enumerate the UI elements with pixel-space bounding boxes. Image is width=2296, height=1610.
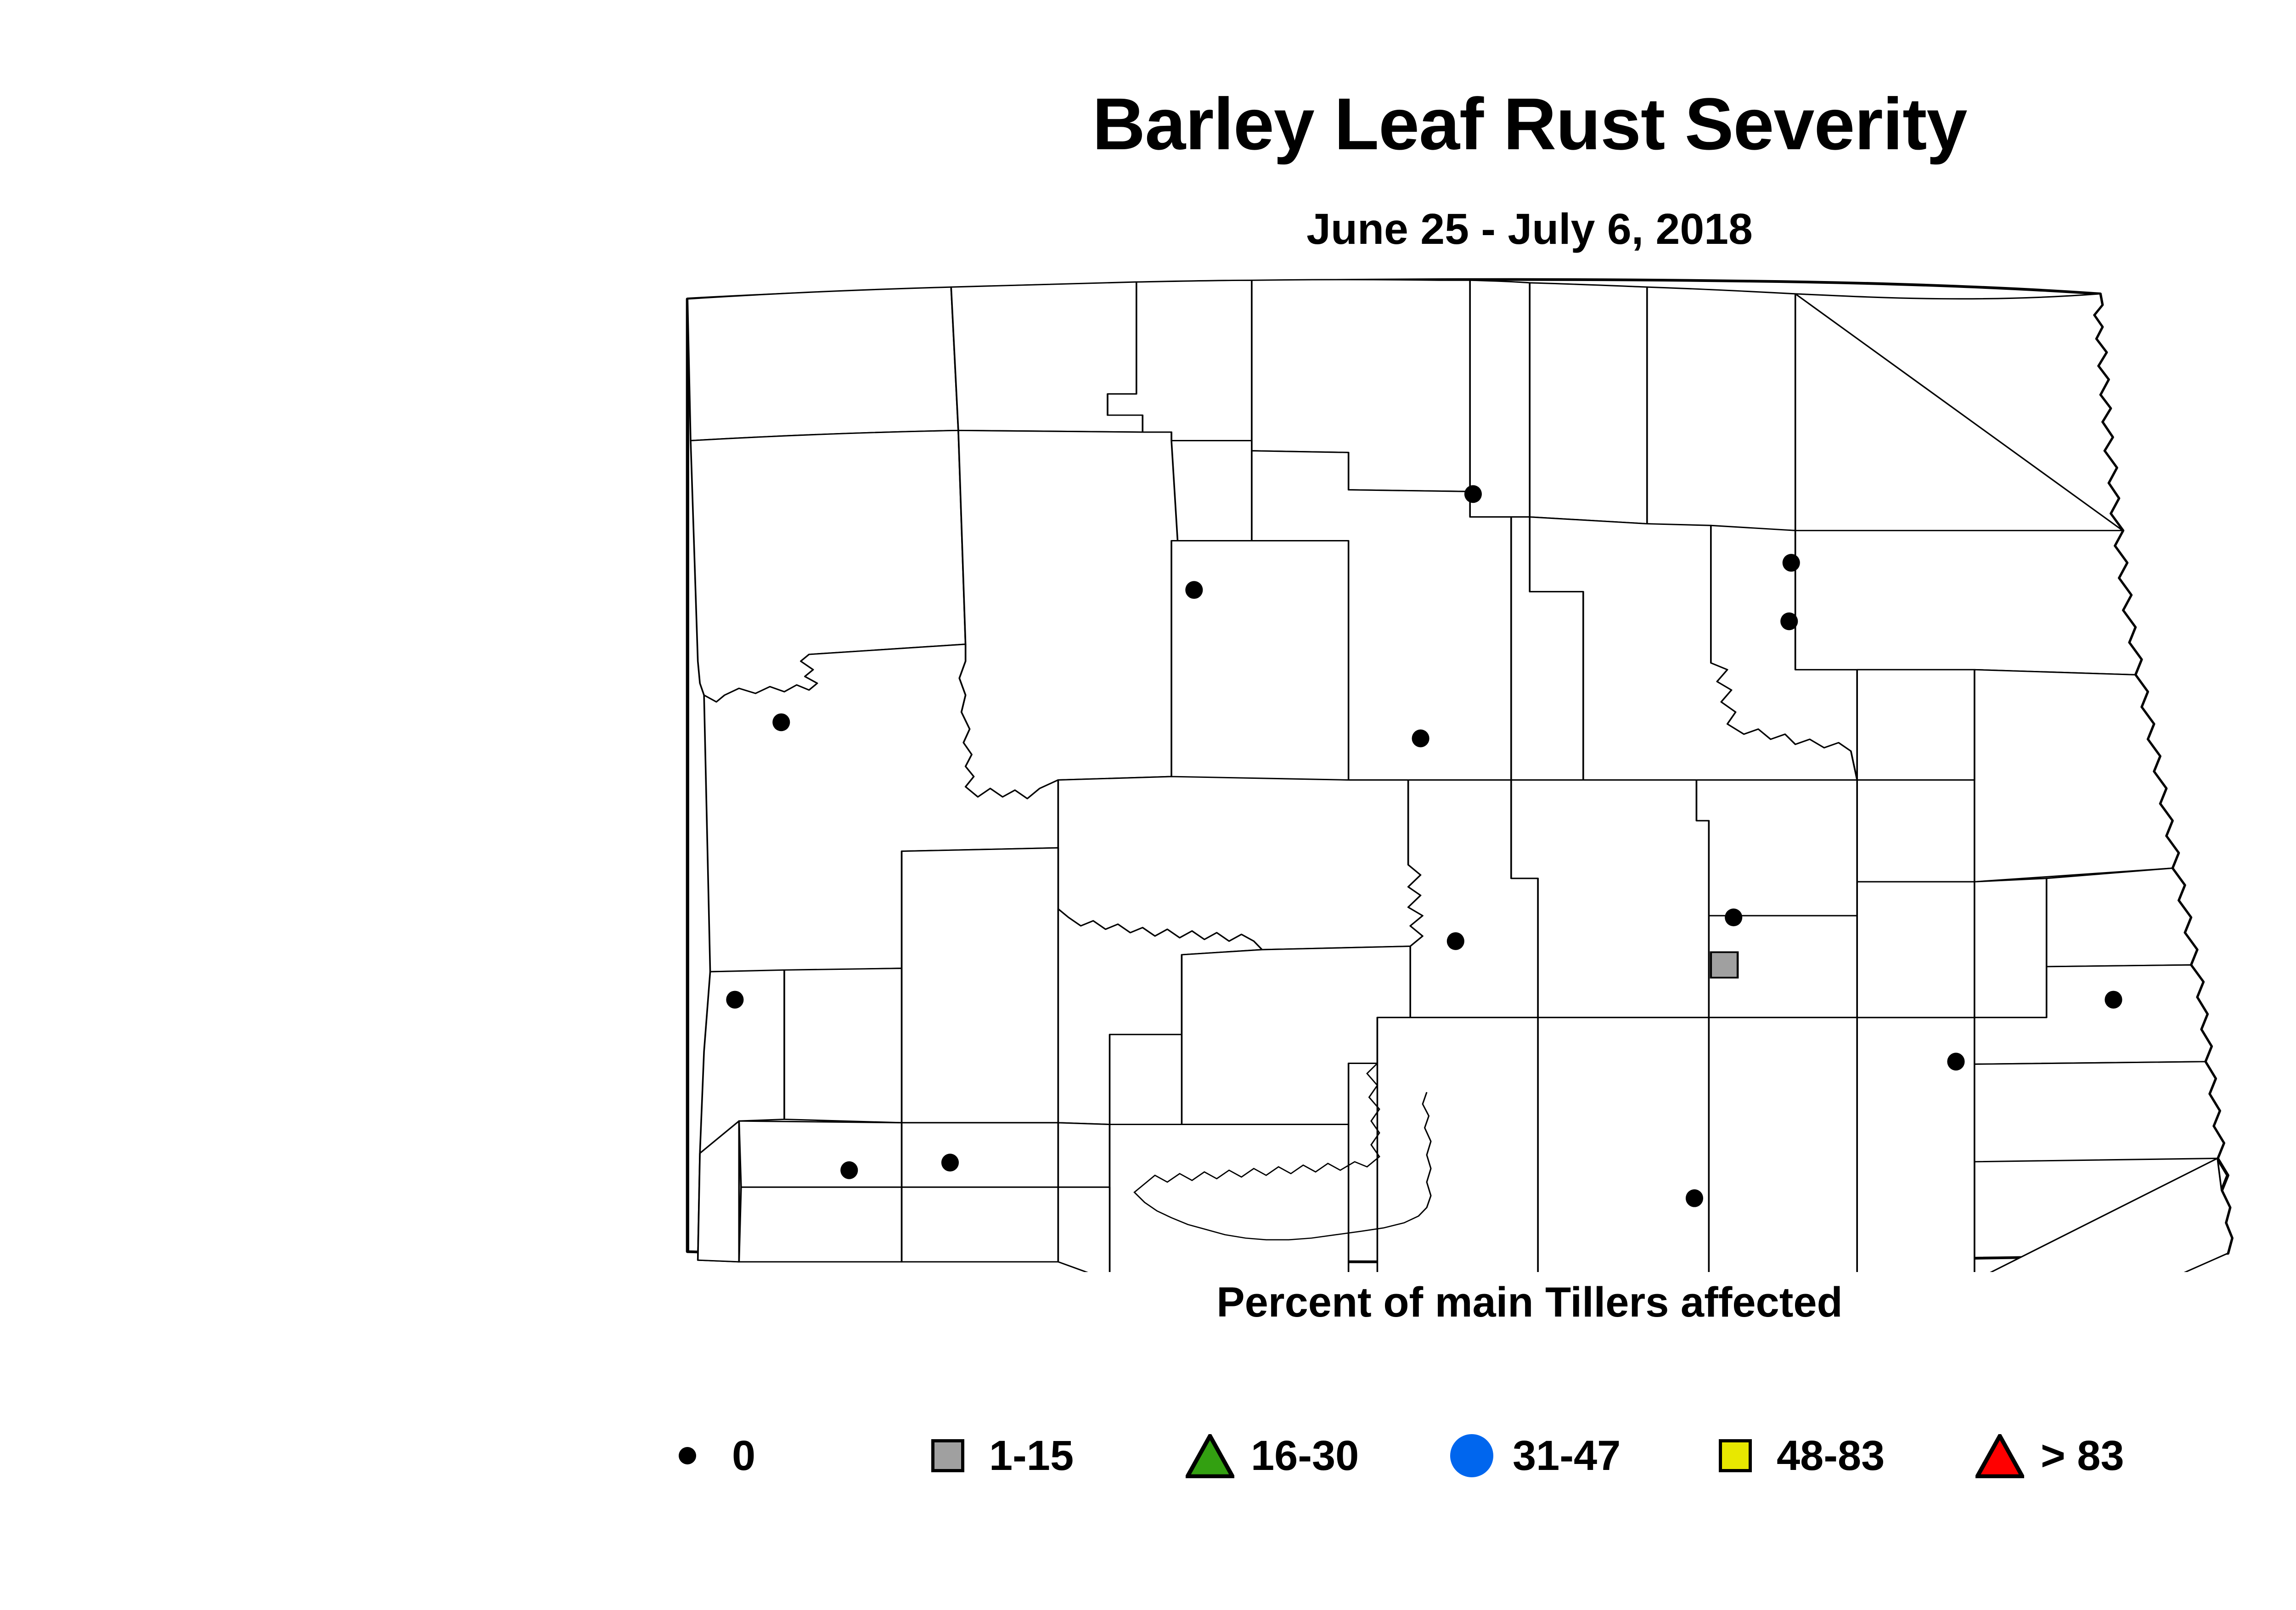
map-figure: Barley Leaf Rust Severity June 25 - July… (0, 0, 2296, 1610)
legend-label: 1-15 (989, 1435, 1074, 1477)
county-morton[interactable] (1109, 1125, 1348, 1272)
county-nelson[interactable] (1857, 780, 1975, 882)
page-title: Barley Leaf Rust Severity (0, 87, 2296, 161)
map-marker-0[interactable] (1725, 908, 1742, 926)
legend-symbol-dot-icon (657, 1421, 726, 1490)
county-cavalier[interactable] (1647, 287, 1795, 530)
map-marker-0[interactable] (1947, 1053, 1964, 1070)
county-kidder[interactable] (1538, 1018, 1709, 1272)
county-stutsman[interactable] (1709, 1018, 1857, 1272)
legend-label: 31-47 (1513, 1435, 1621, 1477)
county-walsh[interactable] (1795, 530, 2141, 675)
legend-item-31-47[interactable]: 31-47 (1437, 1412, 1621, 1499)
square-icon (931, 1439, 964, 1472)
map-svg (657, 271, 2273, 1272)
county-mclean[interactable] (1058, 777, 1423, 950)
legend-symbol-triangle-icon (1176, 1421, 1244, 1490)
county-griggs[interactable] (1857, 882, 1975, 1018)
legend-symbol-square-icon (1701, 1421, 1770, 1490)
county-steele[interactable] (1975, 878, 2047, 1018)
legend-label: 0 (732, 1435, 755, 1477)
county-morton-west[interactable] (1058, 1123, 1109, 1187)
county-grand-forks[interactable] (1975, 670, 2178, 882)
dot-icon (679, 1447, 696, 1464)
legend-label: > 83 (2041, 1435, 2124, 1477)
county-divide[interactable] (687, 287, 958, 440)
map-marker-0[interactable] (2105, 991, 2122, 1009)
triangle-icon (1186, 1434, 1234, 1478)
map-marker-0[interactable] (772, 713, 790, 731)
map-marker-0[interactable] (840, 1161, 858, 1179)
county-traill[interactable] (2047, 868, 2197, 967)
map-marker-0[interactable] (1464, 485, 1482, 503)
page-subtitle: June 25 - July 6, 2018 (0, 208, 2296, 251)
map-marker-0[interactable] (1185, 581, 1203, 599)
north-dakota-county-map[interactable] (657, 271, 2273, 1272)
county-dunn[interactable] (902, 848, 1058, 1123)
county-towner[interactable] (1530, 283, 1647, 524)
legend-symbol-square-icon (914, 1421, 983, 1490)
county-wells[interactable] (1511, 780, 1709, 1017)
circle-icon (1450, 1434, 1493, 1477)
legend-item-48-83[interactable]: 48-83 (1701, 1412, 1885, 1499)
legend-symbol-triangle-icon (1965, 1421, 2034, 1490)
value-caption: Percent of main Tillers affected (0, 1281, 2296, 1323)
county-stark[interactable] (902, 1123, 1058, 1187)
square-icon (1719, 1439, 1752, 1472)
map-marker-0[interactable] (726, 991, 743, 1009)
county-hettinger[interactable] (1058, 1187, 1109, 1272)
county-burleigh[interactable] (1377, 1018, 1538, 1272)
legend-item-0[interactable]: 0 (657, 1412, 755, 1499)
map-marker-0[interactable] (941, 1154, 959, 1171)
county-billings[interactable] (784, 968, 902, 1123)
county-eddy[interactable] (1696, 780, 1857, 916)
county-adams[interactable] (902, 1187, 1058, 1262)
county-slope[interactable] (739, 1121, 901, 1187)
legend-item-1-15[interactable]: 1-15 (914, 1412, 1074, 1499)
county-nelson-north[interactable] (1857, 670, 1975, 780)
map-marker-0[interactable] (1686, 1189, 1703, 1207)
legend-item--83[interactable]: > 83 (1965, 1412, 2124, 1499)
map-marker-0[interactable] (1783, 554, 1800, 572)
county-borders (687, 280, 2232, 1272)
map-marker-0[interactable] (1447, 932, 1464, 950)
map-marker-0[interactable] (1780, 613, 1798, 630)
map-marker-0[interactable] (1412, 730, 1429, 748)
legend-symbol-circle-icon (1437, 1421, 1506, 1490)
county-bowman[interactable] (739, 1187, 901, 1262)
legend-label: 16-30 (1251, 1435, 1359, 1477)
legend-label: 48-83 (1777, 1435, 1885, 1477)
legend-item-16-30[interactable]: 16-30 (1176, 1412, 1359, 1499)
triangle-icon (1975, 1434, 2024, 1478)
map-marker-1-15[interactable] (1711, 952, 1738, 978)
county-rolette[interactable] (1470, 280, 1530, 517)
legend: 01-1516-3031-4748-83> 83 (657, 1412, 2218, 1499)
